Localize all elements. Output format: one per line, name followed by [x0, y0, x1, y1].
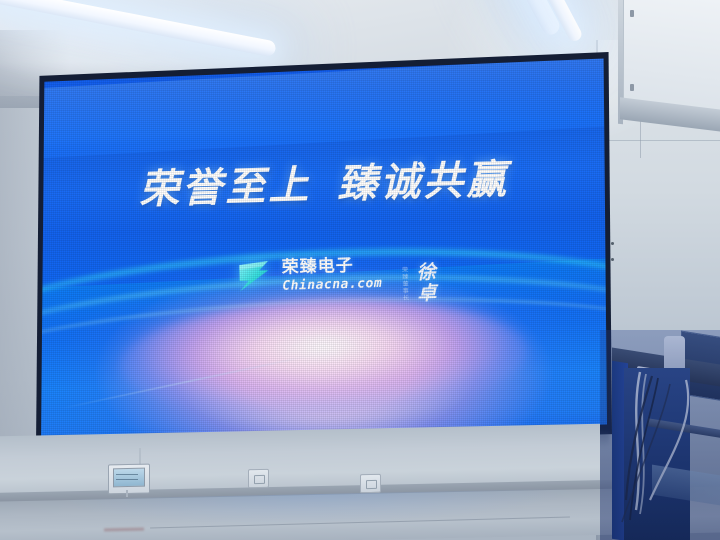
logo-text-block: 荣臻电子 Chinacna.com — [282, 256, 383, 292]
cable-bundle — [600, 350, 720, 540]
headline-left-phrase: 荣誉至上 — [139, 161, 312, 213]
signature-title: 荣臻董事长 — [400, 266, 410, 301]
logo-company-name: 荣臻电子 — [282, 256, 382, 276]
cabinet-hinge-icon — [630, 10, 634, 17]
headline-right-phrase: 臻诚共赢 — [336, 155, 509, 207]
socket-slot-icon — [254, 475, 265, 484]
led-pixel-texture — [41, 57, 607, 443]
signature-block: 荣臻董事长 徐卓 — [400, 261, 440, 304]
led-screen[interactable]: 荣誉至上臻诚共赢 荣臻电子 Chinacna.com — [41, 57, 607, 443]
rongzhen-z-mark-icon — [233, 255, 276, 298]
wall-screw-icon — [611, 258, 614, 261]
socket-slot-icon — [366, 480, 377, 489]
wall-screw-icon — [611, 242, 614, 245]
company-logo: 荣臻电子 Chinacna.com — [233, 252, 383, 298]
headline-gap — [311, 197, 337, 198]
wall-panel-seam-horizontal — [608, 140, 720, 141]
display-headline: 荣誉至上臻诚共赢 — [41, 144, 607, 218]
cabinet-hinge-icon — [630, 84, 634, 91]
control-panel-text-line — [116, 474, 138, 475]
screen-arc-inner — [41, 285, 607, 427]
signature-name: 徐卓 — [412, 261, 440, 304]
wall-socket-1[interactable] — [248, 469, 269, 488]
wall-socket-2[interactable] — [360, 474, 381, 493]
screen-light-streak — [61, 354, 316, 409]
screen-stage-glow — [118, 292, 530, 423]
control-panel-display — [113, 468, 145, 488]
photo-scene: 荣誉至上臻诚共赢 荣臻电子 Chinacna.com — [0, 0, 720, 540]
control-panel-conduit-lower — [126, 490, 128, 497]
control-panel-text-line — [116, 479, 138, 480]
logo-website: Chinacna.com — [283, 276, 383, 292]
